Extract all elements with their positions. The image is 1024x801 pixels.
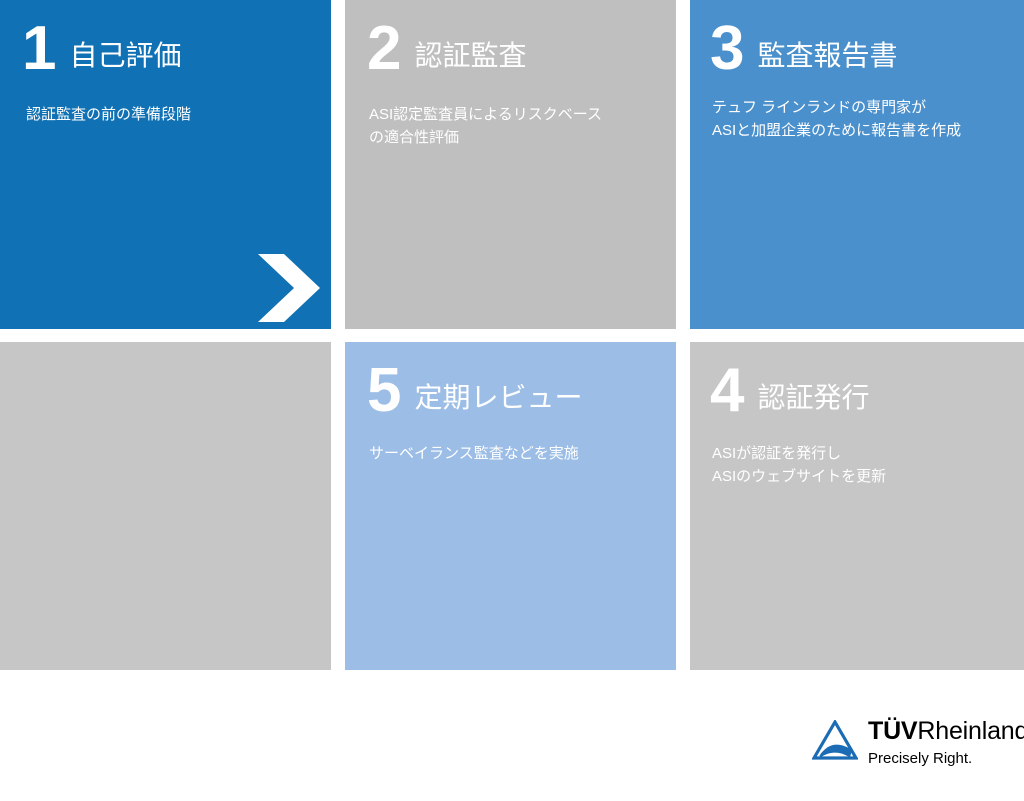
tuv-rheinland-logo: TÜVRheinland® Precisely Right.: [812, 716, 1018, 778]
tuv-brand-line: TÜVRheinland®: [868, 718, 1020, 746]
tuv-wordmark: TÜVRheinland® Precisely Right.: [868, 718, 1020, 767]
tuv-tagline: Precisely Right.: [868, 750, 1020, 767]
step-3-header: 3 監査報告書: [710, 18, 898, 80]
step-3-description: テュフ ラインランドの専門家が ASIと加盟企業のために報告書を作成: [712, 96, 961, 143]
step-5-title: 定期レビュー: [414, 376, 582, 416]
step-panel-1[interactable]: 1 自己評価 認証監査の前の準備段階: [0, 0, 331, 329]
tuv-brand-regular: Rheinland: [917, 717, 1024, 745]
step-panel-4[interactable]: 4 認証発行 ASIが認証を発行し ASIのウェブサイトを更新: [690, 342, 1024, 670]
step-3-title: 監査報告書: [757, 34, 897, 74]
step-5-number: 5: [367, 360, 400, 422]
step-5-description: サーベイランス監査などを実施: [369, 442, 579, 465]
step-panel-3[interactable]: 3 監査報告書 テュフ ラインランドの専門家が ASIと加盟企業のために報告書を…: [690, 0, 1024, 329]
step-5-header: 5 定期レビュー: [367, 360, 583, 422]
step-2-title: 認証監査: [414, 34, 526, 74]
step-4-number: 4: [710, 360, 743, 422]
diagram-canvas: 1 自己評価 認証監査の前の準備段階 2 認証監査 ASI認定監査員によるリスク…: [0, 0, 1024, 801]
step-2-header: 2 認証監査: [367, 18, 527, 80]
arrow-right-icon: [250, 252, 322, 324]
step-1-description: 認証監査の前の準備段階: [26, 103, 191, 126]
tuv-triangle-icon: [812, 720, 858, 762]
step-4-header: 4 認証発行: [710, 360, 870, 422]
step-panel-2[interactable]: 2 認証監査 ASI認定監査員によるリスクベース の適合性評価: [345, 0, 676, 329]
step-2-description: ASI認定監査員によるリスクベース の適合性評価: [369, 103, 602, 150]
step-3-number: 3: [710, 18, 743, 80]
step-1-title: 自己評価: [69, 34, 181, 74]
step-1-number: 1: [22, 18, 55, 80]
step-panel-5[interactable]: 5 定期レビュー サーベイランス監査などを実施: [345, 342, 676, 670]
step-2-number: 2: [367, 18, 400, 80]
step-4-description: ASIが認証を発行し ASIのウェブサイトを更新: [712, 442, 886, 489]
step-1-header: 1 自己評価: [22, 18, 182, 80]
step-4-title: 認証発行: [757, 376, 869, 416]
blank-panel: [0, 342, 331, 670]
tuv-brand-bold: TÜV: [868, 717, 917, 745]
